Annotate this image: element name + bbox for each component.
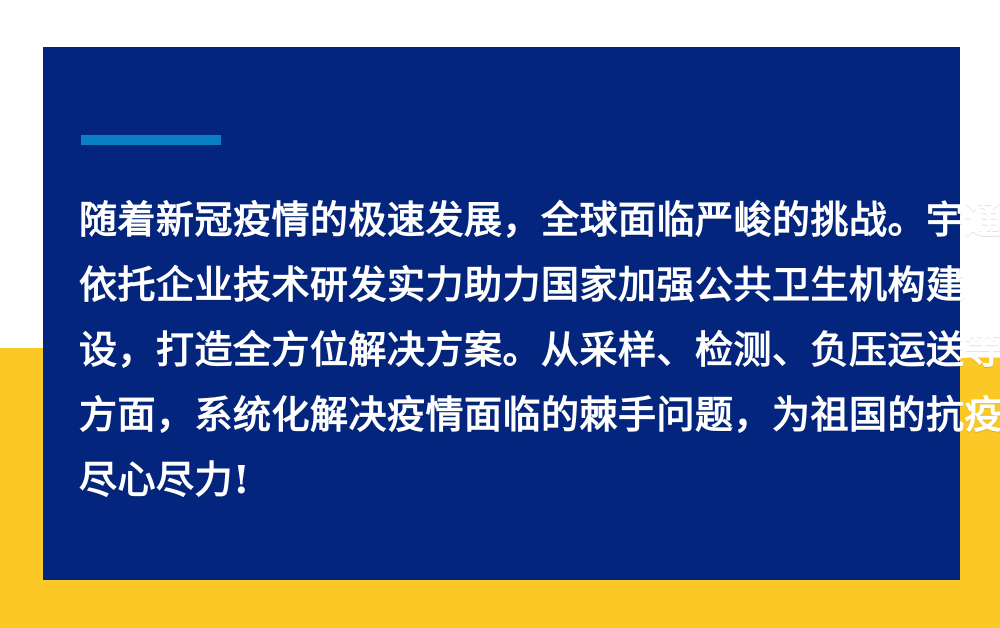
paragraph-line: 方面，系统化解决疫情面临的棘手问题，为祖国的抗疫 [79, 382, 931, 447]
paragraph-line: 随着新冠疫情的极速发展，全球面临严峻的挑战。宇通 [79, 187, 931, 252]
paragraph-line: 依托企业技术研发实力助力国家加强公共卫生机构建 [79, 252, 931, 317]
paragraph-line: 设，打造全方位解决方案。从采样、检测、负压运送等 [79, 317, 931, 382]
poster-canvas: 随着新冠疫情的极速发展，全球面临严峻的挑战。宇通 依托企业技术研发实力助力国家加… [0, 0, 1000, 628]
paragraph-block: 随着新冠疫情的极速发展，全球面临严峻的挑战。宇通 依托企业技术研发实力助力国家加… [79, 187, 931, 512]
yellow-accent-band-bottom [0, 580, 1000, 628]
cyan-rule-icon [81, 135, 221, 145]
blue-content-panel: 随着新冠疫情的极速发展，全球面临严峻的挑战。宇通 依托企业技术研发实力助力国家加… [43, 47, 960, 580]
paragraph-line: 尽心尽力! [79, 447, 931, 512]
